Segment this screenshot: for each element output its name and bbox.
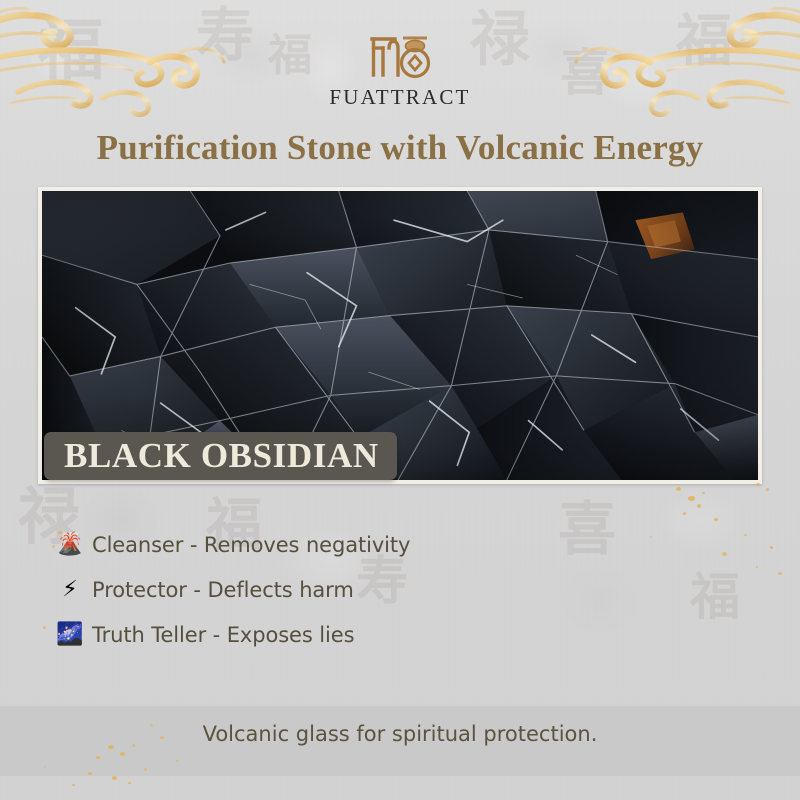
lightning-icon: ⚡ (48, 579, 92, 601)
poster-canvas: 福 寿 福 禄 喜 福 禄 福 寿 喜 福 (0, 0, 800, 800)
benefit-label: Protector - Deflects harm (92, 578, 354, 602)
volcano-icon: 🌋 (48, 534, 92, 556)
fuattract-seal-logo-icon (0, 30, 800, 82)
milky-way-icon: 🌌 (48, 624, 92, 646)
brand-lockup: FUATTRACT (0, 30, 800, 110)
benefit-label: Cleanser - Removes negativity (92, 533, 410, 557)
page-title: Purification Stone with Volcanic Energy (0, 128, 800, 168)
stone-name-label: BLACK OBSIDIAN (64, 436, 379, 476)
benefit-label: Truth Teller - Exposes lies (92, 623, 354, 647)
footer-caption: Volcanic glass for spiritual protection. (0, 722, 800, 746)
list-item: ⚡ Protector - Deflects harm (48, 567, 568, 612)
list-item: 🌋 Cleanser - Removes negativity (48, 522, 568, 567)
watermark-glyph: 福 (690, 572, 740, 622)
brand-name: FUATTRACT (0, 85, 800, 110)
stone-name-banner: BLACK OBSIDIAN (44, 432, 397, 480)
benefits-list: 🌋 Cleanser - Removes negativity ⚡ Protec… (48, 522, 568, 657)
list-item: 🌌 Truth Teller - Exposes lies (48, 612, 568, 657)
